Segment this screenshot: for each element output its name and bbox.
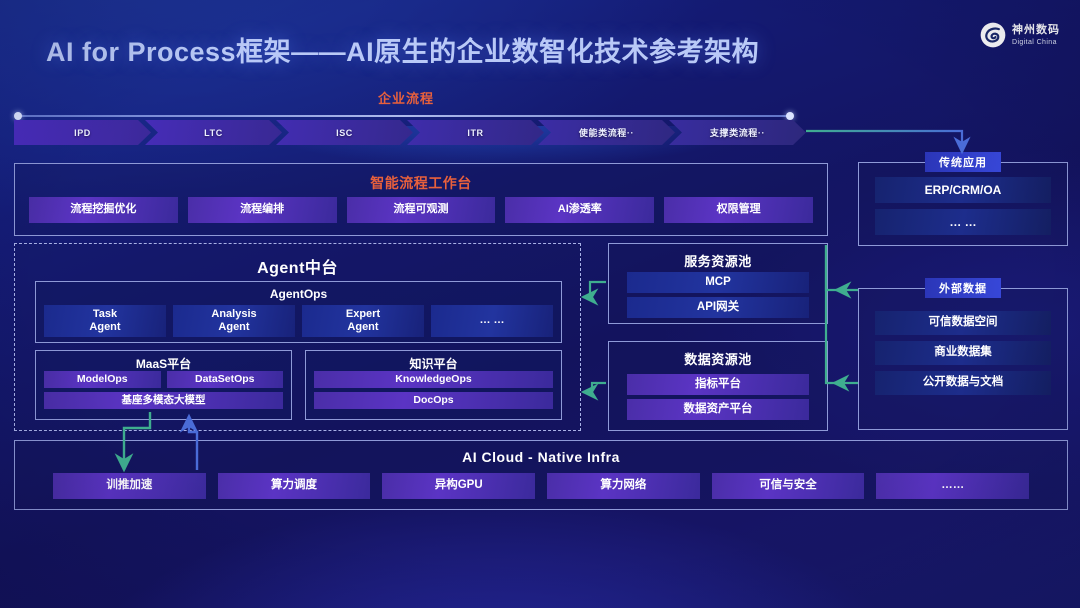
rail-dot-right bbox=[786, 112, 794, 120]
infra-panel: AI Cloud - Native Infra 训推加速算力调度异构GPU算力网… bbox=[14, 440, 1068, 510]
agent-card-line1: Analysis bbox=[211, 308, 256, 321]
maas-item-2[interactable]: DataSetOps bbox=[167, 371, 284, 388]
process-step-3[interactable]: ISC bbox=[276, 120, 413, 145]
maas-title: MaaS平台 bbox=[36, 355, 291, 372]
agent-card-4[interactable]: … … bbox=[431, 305, 553, 337]
data-pool-title: 数据资源池 bbox=[609, 349, 827, 368]
process-step-label: ITR bbox=[467, 128, 483, 138]
service-pool-item-1[interactable]: MCP bbox=[627, 272, 809, 293]
external-data-item-1[interactable]: 可信数据空间 bbox=[875, 311, 1051, 335]
knowledge-item-1[interactable]: KnowledgeOps bbox=[314, 371, 553, 388]
page-title: AI for Process框架——AI原生的企业数智化技术参考架构 bbox=[46, 30, 759, 69]
legacy-app-item-1[interactable]: ERP/CRM/OA bbox=[875, 177, 1051, 203]
service-pool-panel: 服务资源池 MCPAPI网关 bbox=[608, 243, 828, 324]
data-pool-items: 指标平台数据资产平台 bbox=[627, 374, 809, 420]
data-pool-panel: 数据资源池 指标平台数据资产平台 bbox=[608, 341, 828, 431]
agent-card-line2: Agent bbox=[89, 321, 120, 334]
rail-line bbox=[19, 115, 789, 117]
workbench-panel: 智能流程工作台 流程挖掘优化流程编排流程可观测AI渗透率权限管理 bbox=[14, 163, 828, 236]
knowledge-row-2: DocOps bbox=[314, 392, 553, 409]
infra-item-1[interactable]: 训推加速 bbox=[53, 473, 206, 499]
maas-item-1[interactable]: ModelOps bbox=[44, 371, 161, 388]
process-step-label: 支撑类流程·· bbox=[710, 126, 765, 139]
process-step-label: LTC bbox=[204, 128, 223, 138]
infra-item-2[interactable]: 算力调度 bbox=[218, 473, 371, 499]
process-chain: IPDLTCISCITR使能类流程··支撑类流程·· bbox=[14, 120, 800, 145]
process-rail bbox=[14, 112, 794, 120]
process-step-4[interactable]: ITR bbox=[407, 120, 544, 145]
service-pool-items: MCPAPI网关 bbox=[627, 272, 809, 318]
agent-card-line2: Agent bbox=[218, 321, 249, 334]
agentops-items: TaskAgentAnalysisAgentExpertAgent… … bbox=[44, 305, 553, 337]
brand-logo: 神州数码 Digital China bbox=[980, 22, 1060, 48]
maas-panel: MaaS平台 ModelOpsDataSetOps 基座多模态大模型 bbox=[35, 350, 292, 420]
agent-card-line1: Expert bbox=[346, 308, 380, 321]
agent-platform-panel: Agent中台 AgentOps TaskAgentAnalysisAgentE… bbox=[14, 243, 581, 431]
knowledge-title: 知识平台 bbox=[306, 355, 561, 372]
link-chain-to-legacy bbox=[806, 131, 962, 152]
infra-item-5[interactable]: 可信与安全 bbox=[712, 473, 865, 499]
workbench-item-2[interactable]: 流程编排 bbox=[188, 197, 337, 223]
legacy-apps-panel: 传统应用 ERP/CRM/OA… … bbox=[858, 162, 1068, 246]
link-service-pool-to-agent bbox=[583, 282, 606, 297]
infra-item-4[interactable]: 算力网络 bbox=[547, 473, 700, 499]
external-data-item-3[interactable]: 公开数据与文档 bbox=[875, 371, 1051, 395]
external-data-title: 外部数据 bbox=[925, 278, 1001, 298]
knowledge-panel: 知识平台 KnowledgeOps DocOps bbox=[305, 350, 562, 420]
infra-item-6[interactable]: …… bbox=[876, 473, 1029, 499]
data-pool-item-1[interactable]: 指标平台 bbox=[627, 374, 809, 395]
infra-item-3[interactable]: 异构GPU bbox=[382, 473, 535, 499]
agent-card-2[interactable]: AnalysisAgent bbox=[173, 305, 295, 337]
agent-card-line2: Agent bbox=[347, 321, 378, 334]
process-step-5[interactable]: 使能类流程·· bbox=[538, 120, 675, 145]
external-data-panel: 外部数据 可信数据空间商业数据集公开数据与文档 bbox=[858, 288, 1068, 430]
workbench-item-5[interactable]: 权限管理 bbox=[664, 197, 813, 223]
legacy-app-item-2[interactable]: … … bbox=[875, 209, 1051, 235]
logo-cn-text: 神州数码 bbox=[1012, 25, 1060, 36]
link-data-pool-to-agent bbox=[583, 383, 606, 392]
workbench-item-4[interactable]: AI渗透率 bbox=[505, 197, 654, 223]
agent-card-1[interactable]: TaskAgent bbox=[44, 305, 166, 337]
knowledge-item-b-1[interactable]: DocOps bbox=[314, 392, 553, 409]
legacy-apps-title: 传统应用 bbox=[925, 152, 1001, 172]
process-step-label: ISC bbox=[336, 128, 353, 138]
service-pool-item-2[interactable]: API网关 bbox=[627, 297, 809, 318]
process-step-1[interactable]: IPD bbox=[14, 120, 151, 145]
legacy-apps-items: ERP/CRM/OA… … bbox=[875, 177, 1051, 235]
logo-en-text: Digital China bbox=[1012, 39, 1060, 46]
agent-platform-title: Agent中台 bbox=[15, 254, 580, 278]
maas-base-model-1[interactable]: 基座多模态大模型 bbox=[44, 392, 283, 409]
data-pool-item-2[interactable]: 数据资产平台 bbox=[627, 399, 809, 420]
rail-dot-left bbox=[14, 112, 22, 120]
maas-row-1: ModelOpsDataSetOps bbox=[44, 371, 283, 388]
process-step-label: 使能类流程·· bbox=[579, 126, 634, 139]
agentops-title: AgentOps bbox=[36, 287, 561, 301]
process-step-6[interactable]: 支撑类流程·· bbox=[669, 120, 806, 145]
agentops-panel: AgentOps TaskAgentAnalysisAgentExpertAge… bbox=[35, 281, 562, 343]
workbench-item-1[interactable]: 流程挖掘优化 bbox=[29, 197, 178, 223]
external-data-items: 可信数据空间商业数据集公开数据与文档 bbox=[875, 311, 1051, 395]
agent-card-line1: Task bbox=[93, 308, 117, 321]
agent-card-3[interactable]: ExpertAgent bbox=[302, 305, 424, 337]
process-step-2[interactable]: LTC bbox=[145, 120, 282, 145]
process-label: 企业流程 bbox=[0, 88, 812, 107]
workbench-title: 智能流程工作台 bbox=[15, 173, 827, 193]
infra-title: AI Cloud - Native Infra bbox=[15, 449, 1067, 465]
infra-items: 训推加速算力调度异构GPU算力网络可信与安全…… bbox=[53, 473, 1029, 499]
agent-card-line1: … … bbox=[479, 314, 504, 327]
maas-row-2: 基座多模态大模型 bbox=[44, 392, 283, 409]
workbench-items: 流程挖掘优化流程编排流程可观测AI渗透率权限管理 bbox=[29, 197, 813, 223]
slide-canvas: AI for Process框架——AI原生的企业数智化技术参考架构 神州数码 … bbox=[0, 0, 1080, 608]
swirl-logo-icon bbox=[980, 22, 1006, 48]
external-data-item-2[interactable]: 商业数据集 bbox=[875, 341, 1051, 365]
workbench-item-3[interactable]: 流程可观测 bbox=[347, 197, 496, 223]
service-pool-title: 服务资源池 bbox=[609, 251, 827, 270]
process-step-label: IPD bbox=[74, 128, 91, 138]
knowledge-row-1: KnowledgeOps bbox=[314, 371, 553, 388]
